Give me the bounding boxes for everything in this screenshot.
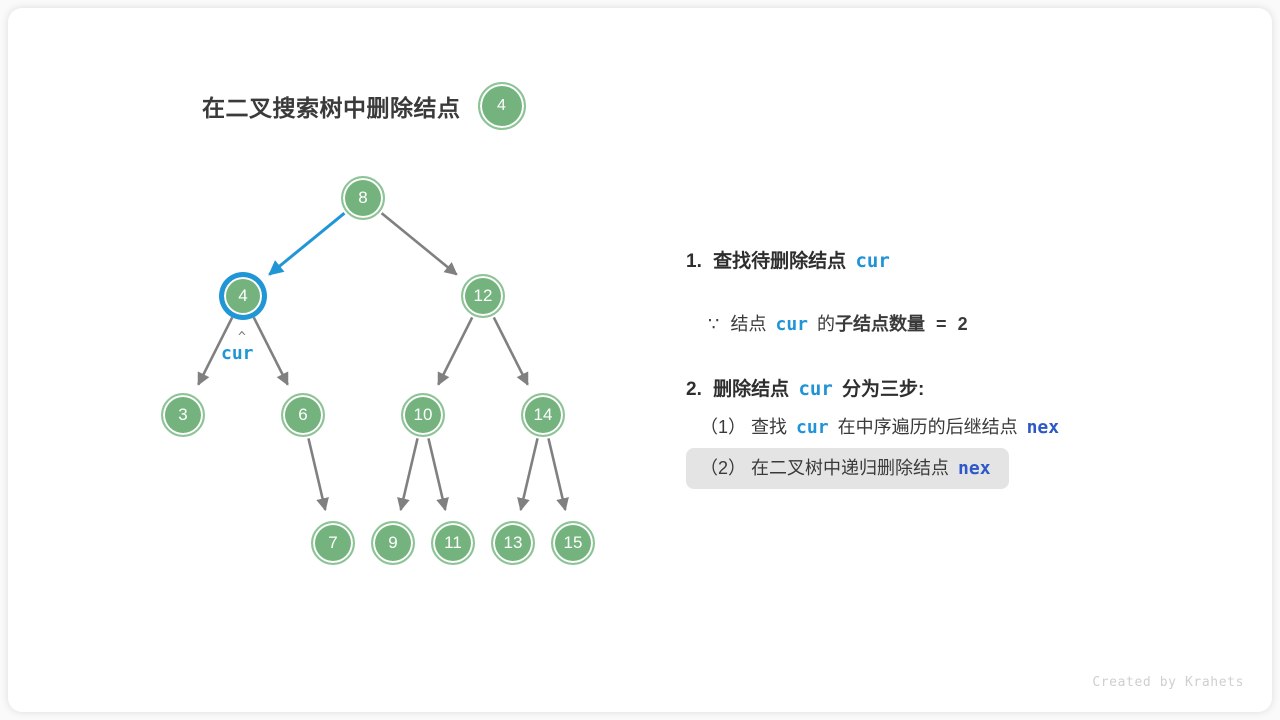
tree-node-14[interactable]: 14 — [521, 393, 565, 437]
tree-node-12[interactable]: 12 — [461, 274, 505, 318]
reason-var-cur: cur — [771, 314, 812, 335]
reason-text-b: 的 — [817, 314, 835, 334]
tree-edges — [8, 8, 668, 712]
tree-edge — [401, 438, 418, 510]
step-2-prefix: 2. — [686, 379, 702, 400]
tree-node-3[interactable]: 3 — [161, 393, 205, 437]
substep-1-index: （1） — [700, 417, 746, 437]
reason-equals: = — [936, 314, 947, 334]
tree-edge — [254, 317, 288, 384]
substep-2-text-a: 在二叉树中递归删除结点 — [751, 458, 949, 478]
substep-1-text-b: 在中序遍历的后继结点 — [838, 417, 1018, 437]
because-symbol: ∵ — [708, 314, 719, 334]
step-1-var-cur: cur — [851, 250, 893, 272]
substep-1: （1） 查找 cur 在中序遍历的后继结点 nex — [686, 407, 1077, 448]
substep-2-index: （2） — [700, 458, 746, 478]
credit-footer: Created by Krahets — [1092, 675, 1244, 690]
tree-edge — [521, 438, 538, 510]
tree-node-13[interactable]: 13 — [491, 521, 535, 565]
step-2-var-cur: cur — [794, 378, 836, 400]
tree-edge — [494, 317, 528, 384]
tree-edge — [308, 438, 325, 510]
tree-node-10[interactable]: 10 — [401, 393, 445, 437]
diagram-card: 在二叉搜索树中删除结点 4 841236101479111315 ^ cur 1… — [8, 8, 1272, 712]
substep-2-row: （2） 在二叉树中递归删除结点 nex — [686, 448, 1246, 489]
substep-1-var-nex: nex — [1023, 417, 1064, 438]
substep-2-var-nex: nex — [954, 458, 995, 479]
tree-node-7[interactable]: 7 — [311, 521, 355, 565]
substep-1-row: （1） 查找 cur 在中序遍历的后继结点 nex — [686, 407, 1246, 448]
binary-search-tree: 841236101479111315 ^ cur — [8, 8, 668, 712]
steps-panel: 1. 查找待删除结点 cur ∵ 结点 cur 的子结点数量 = 2 2. 删除… — [686, 244, 1246, 489]
step-2: 2. 删除结点 cur 分为三步: — [686, 372, 1246, 407]
tree-edge — [428, 438, 445, 510]
reason-count: 2 — [958, 314, 968, 334]
tree-node-4[interactable]: 4 — [221, 274, 265, 318]
tree-edge — [269, 213, 344, 274]
step-1-prefix: 1. — [686, 251, 702, 272]
step-1: 1. 查找待删除结点 cur — [686, 244, 1246, 279]
reason-text-c: 子结点数量 — [835, 314, 925, 334]
step-2-text-a: 删除结点 — [713, 379, 789, 400]
tree-edge — [438, 317, 472, 384]
substep-1-var-cur: cur — [792, 417, 833, 438]
reason-text-a: 结点 — [730, 314, 766, 334]
tree-edge — [548, 438, 565, 510]
tree-node-15[interactable]: 15 — [551, 521, 595, 565]
tree-edge — [382, 213, 457, 274]
tree-node-6[interactable]: 6 — [281, 393, 325, 437]
tree-node-11[interactable]: 11 — [431, 521, 475, 565]
step-2-text-b: 分为三步: — [842, 379, 924, 400]
substep-2: （2） 在二叉树中递归删除结点 nex — [686, 448, 1009, 489]
step-1-text: 查找待删除结点 — [713, 251, 846, 272]
tree-node-9[interactable]: 9 — [371, 521, 415, 565]
cur-pointer-label: cur — [221, 343, 254, 364]
reason-line: ∵ 结点 cur 的子结点数量 = 2 — [686, 307, 1246, 342]
substep-1-text-a: 查找 — [751, 417, 787, 437]
tree-node-8[interactable]: 8 — [341, 176, 385, 220]
